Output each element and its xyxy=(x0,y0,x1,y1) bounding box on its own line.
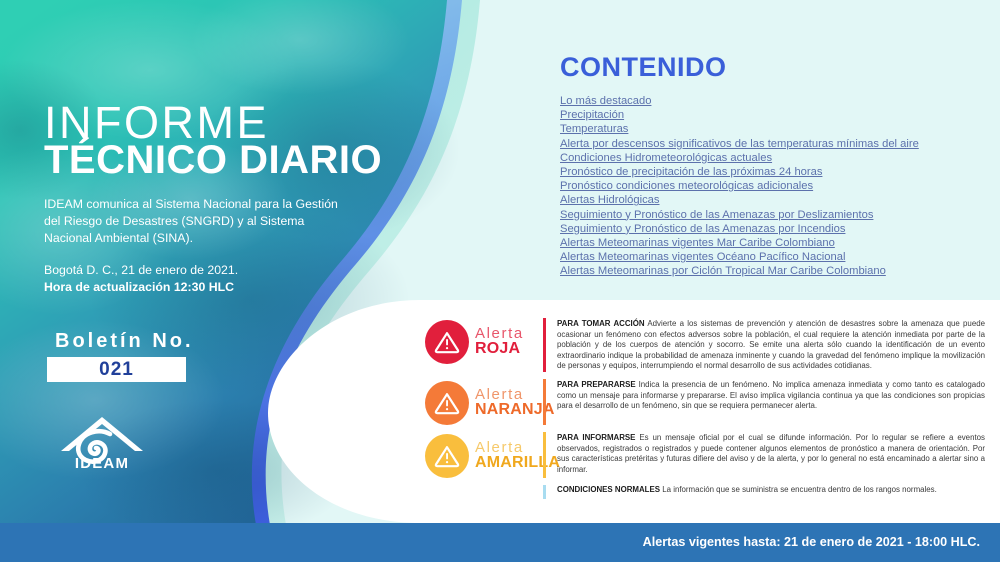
alert-word-alerta-roja: Alerta xyxy=(475,326,524,341)
table-of-contents: CONTENIDO Lo más destacado Precipitación… xyxy=(560,52,980,279)
contents-heading: CONTENIDO xyxy=(560,52,980,83)
alert-legend: Alerta ROJA PARA TOMAR ACCIÓN Advierte a… xyxy=(425,318,985,506)
alert-circle-roja xyxy=(425,320,469,364)
footer-bar: Alertas vigentes hasta: 21 de enero de 2… xyxy=(0,523,1000,562)
toc-link-2[interactable]: Temperaturas xyxy=(560,123,980,137)
toc-link-0[interactable]: Lo más destacado xyxy=(560,95,980,109)
bulletin-number-box: 021 xyxy=(47,357,186,382)
toc-link-3[interactable]: Alerta por descensos significativos de l… xyxy=(560,138,980,152)
alert-description-roja: PARA TOMAR ACCIÓN Advierte a los sistema… xyxy=(557,318,985,372)
alert-word-amarilla: AMARILLA xyxy=(475,455,560,471)
toc-link-5[interactable]: Pronóstico de precipitación de las próxi… xyxy=(560,166,980,180)
alert-badge-naranja: Alerta NARANJA xyxy=(425,379,543,425)
alert-word-roja: ROJA xyxy=(475,341,524,357)
alert-badge-roja: Alerta ROJA xyxy=(425,318,543,364)
toc-link-10[interactable]: Alertas Meteomarinas vigentes Mar Caribe… xyxy=(560,237,980,251)
alert-description-amarilla: PARA INFORMARSE Es un mensaje oficial po… xyxy=(557,432,985,475)
warning-triangle-icon xyxy=(434,330,460,354)
dateline-block: Bogotá D. C., 21 de enero de 2021. Hora … xyxy=(44,262,364,296)
alert-accent-bar-roja xyxy=(543,318,546,372)
toc-link-9[interactable]: Seguimiento y Pronóstico de las Amenazas… xyxy=(560,223,980,237)
bulletin-number: 021 xyxy=(99,359,134,381)
ideam-logo-text: IDEAM xyxy=(47,455,157,472)
alert-lead-amarilla: PARA INFORMARSE xyxy=(557,433,635,442)
alert-lead-roja: PARA TOMAR ACCIÓN xyxy=(557,319,645,328)
alert-circle-amarilla xyxy=(425,434,469,478)
alert-accent-bar-amarilla xyxy=(543,432,546,478)
alert-circle-naranja xyxy=(425,381,469,425)
page-title-secondary: TÉCNICO DIARIO xyxy=(44,140,382,180)
toc-link-8[interactable]: Seguimiento y Pronóstico de las Amenazas… xyxy=(560,209,980,223)
warning-triangle-icon xyxy=(434,391,460,415)
toc-link-4[interactable]: Condiciones Hidrometeorológicas actuales xyxy=(560,152,980,166)
toc-link-7[interactable]: Alertas Hidrológicas xyxy=(560,194,980,208)
footer-validity-text: Alertas vigentes hasta: 21 de enero de 2… xyxy=(643,535,980,549)
alert-accent-bar-naranja xyxy=(543,379,546,425)
report-cover-page: INFORME TÉCNICO DIARIO IDEAM comunica al… xyxy=(0,0,1000,562)
place-date: Bogotá D. C., 21 de enero de 2021. xyxy=(44,263,238,277)
alert-accent-bar-normal xyxy=(543,485,546,499)
alert-words-roja: Alerta ROJA xyxy=(475,326,524,358)
toc-link-6[interactable]: Pronóstico condiciones meteorológicas ad… xyxy=(560,180,980,194)
alert-description-naranja: PARA PREPARARSE Indica la presencia de u… xyxy=(557,379,985,412)
toc-link-11[interactable]: Alertas Meteomarinas vigentes Océano Pac… xyxy=(560,251,980,265)
alert-badge-normal xyxy=(425,485,543,487)
alert-row-normal: CONDICIONES NORMALES La información que … xyxy=(425,485,985,499)
alert-lead-naranja: PARA PREPARARSE xyxy=(557,380,636,389)
warning-triangle-icon xyxy=(434,444,460,468)
alert-body-normal: La información que se suministra se encu… xyxy=(662,485,937,494)
toc-link-12[interactable]: Alertas Meteomarinas por Ciclón Tropical… xyxy=(560,265,980,279)
alert-row-roja: Alerta ROJA PARA TOMAR ACCIÓN Advierte a… xyxy=(425,318,985,372)
cover-left-panel: INFORME TÉCNICO DIARIO IDEAM comunica al… xyxy=(0,0,430,525)
alert-row-naranja: Alerta NARANJA PARA PREPARARSE Indica la… xyxy=(425,379,985,425)
contents-list: Lo más destacado Precipitación Temperatu… xyxy=(560,95,980,279)
bulletin-label: Boletín No. xyxy=(55,330,194,353)
alert-word-alerta-amarilla: Alerta xyxy=(475,440,560,455)
alert-badge-amarilla: Alerta AMARILLA xyxy=(425,432,543,478)
intro-paragraph: IDEAM comunica al Sistema Nacional para … xyxy=(44,196,344,247)
alert-words-amarilla: Alerta AMARILLA xyxy=(475,440,560,472)
alert-row-amarilla: Alerta AMARILLA PARA INFORMARSE Es un me… xyxy=(425,432,985,478)
update-time: Hora de actualización 12:30 HLC xyxy=(44,280,234,294)
alert-lead-normal: CONDICIONES NORMALES xyxy=(557,485,660,494)
alert-description-normal: CONDICIONES NORMALES La información que … xyxy=(557,485,985,496)
toc-link-1[interactable]: Precipitación xyxy=(560,109,980,123)
